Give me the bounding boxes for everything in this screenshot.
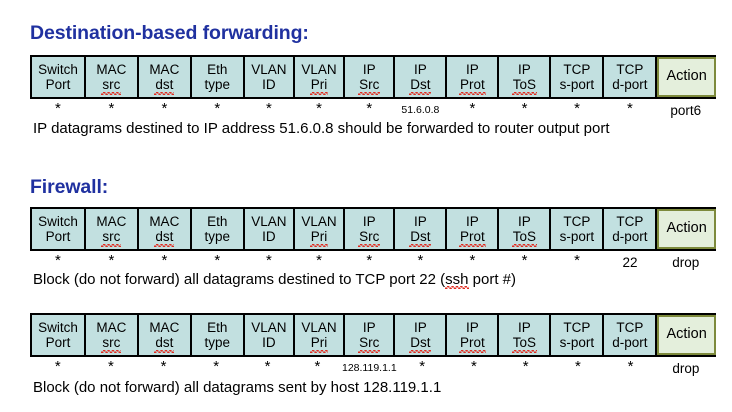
- column-header-ip-tos: IPToS: [499, 315, 551, 355]
- column-header-line2: Port: [46, 77, 71, 93]
- column-header-ip-src: IPSrc: [345, 57, 395, 97]
- column-header-line2: Src: [359, 335, 379, 351]
- value-vlan-id: *: [244, 358, 294, 378]
- caption-text: Block (do not forward) all datagrams des…: [33, 271, 445, 288]
- column-header-eth-type: Ethtype: [192, 57, 245, 97]
- value-ip-prot: *: [447, 100, 499, 120]
- value-vlan-pri: *: [293, 358, 343, 378]
- value-ip-prot: *: [449, 358, 501, 378]
- column-header-ip-prot: IPProt: [447, 209, 499, 249]
- column-header-line2: Port: [46, 335, 71, 351]
- value-eth-type: *: [192, 100, 245, 120]
- value-switch-port: *: [32, 100, 86, 120]
- column-header-line2: Pri: [311, 335, 328, 351]
- value-ip-tos: *: [499, 100, 551, 120]
- column-header-line2: ToS: [513, 229, 536, 245]
- column-header-line1: IP: [466, 62, 479, 78]
- column-header-line2: s-port: [560, 229, 595, 245]
- column-header-line2: s-port: [560, 77, 595, 93]
- column-header-tcp-sport: TCPs-port: [551, 209, 604, 249]
- column-header-line1: Switch: [38, 320, 78, 336]
- value-tcp-dport: 22: [604, 252, 657, 272]
- column-header-line1: VLAN: [251, 320, 286, 336]
- column-header-line2: ID: [262, 229, 276, 245]
- caption-text: Block (do not forward) all datagrams sen…: [33, 379, 441, 396]
- column-header-action: Action: [657, 57, 716, 97]
- column-header-line1: Action: [666, 69, 706, 85]
- caption-firewall-host: Block (do not forward) all datagrams sen…: [33, 379, 441, 396]
- column-header-line1: Action: [666, 221, 706, 237]
- column-header-mac-dst: MACdst: [139, 57, 192, 97]
- column-header-line2: Prot: [460, 335, 485, 351]
- value-ip-src: *: [345, 252, 395, 272]
- column-header-line2: Prot: [460, 229, 485, 245]
- caption-text: IP datagrams destined to IP address 51.6…: [33, 120, 609, 137]
- column-header-line1: IP: [518, 214, 531, 230]
- flow-table-block-1: SwitchPortMACsrcMACdstEthtypeVLANIDVLANP…: [30, 55, 716, 120]
- section-title-firewall: Firewall:: [30, 176, 108, 199]
- value-ip-tos: *: [501, 358, 553, 378]
- caption-firewall-port22: Block (do not forward) all datagrams des…: [33, 271, 516, 288]
- value-switch-port: *: [32, 252, 86, 272]
- column-header-line2: type: [205, 229, 231, 245]
- column-header-line2: Dst: [410, 77, 430, 93]
- column-header-ip-dst: IPDst: [395, 57, 447, 97]
- value-ip-dst: *: [397, 358, 449, 378]
- column-header-line1: VLAN: [301, 62, 336, 78]
- column-header-line1: IP: [363, 214, 376, 230]
- column-header-eth-type: Ethtype: [192, 209, 245, 249]
- column-header-action: Action: [657, 315, 716, 355]
- column-header-ip-prot: IPProt: [447, 315, 499, 355]
- value-action: drop: [657, 252, 716, 272]
- column-header-line2: s-port: [560, 335, 595, 351]
- column-header-line1: Eth: [207, 320, 227, 336]
- value-mac-dst: *: [139, 100, 192, 120]
- column-header-line1: TCP: [563, 214, 590, 230]
- value-vlan-id: *: [245, 100, 295, 120]
- column-header-switch-port: SwitchPort: [32, 315, 86, 355]
- column-header-line2: dst: [155, 229, 173, 245]
- column-header-line2: src: [102, 77, 120, 93]
- column-header-line1: IP: [518, 62, 531, 78]
- column-header-mac-src: MACsrc: [86, 209, 139, 249]
- column-header-line1: VLAN: [251, 214, 286, 230]
- column-header-line1: IP: [363, 62, 376, 78]
- caption-destination-based-forwarding: IP datagrams destined to IP address 51.6…: [33, 120, 609, 137]
- column-header-line1: MAC: [96, 320, 126, 336]
- column-header-line1: MAC: [149, 320, 179, 336]
- value-action: drop: [658, 358, 716, 378]
- column-header-tcp-sport: TCPs-port: [551, 315, 604, 355]
- column-header-line2: src: [102, 229, 120, 245]
- flow-table-block-3: SwitchPortMACsrcMACdstEthtypeVLANIDVLANP…: [30, 313, 716, 378]
- column-header-line2: dst: [155, 77, 173, 93]
- column-header-line1: TCP: [616, 214, 643, 230]
- column-header-tcp-sport: TCPs-port: [551, 57, 604, 97]
- firewall-port22-values: ***********22drop: [30, 252, 716, 272]
- column-header-line2: Dst: [410, 229, 430, 245]
- column-header-line1: VLAN: [301, 320, 336, 336]
- column-header-line1: IP: [363, 320, 376, 336]
- column-header-line1: MAC: [96, 214, 126, 230]
- column-header-line2: Src: [359, 229, 379, 245]
- column-header-vlan-pri: VLANPri: [295, 57, 345, 97]
- value-mac-dst: *: [138, 358, 191, 378]
- column-header-ip-tos: IPToS: [499, 209, 551, 249]
- column-header-line1: TCP: [616, 62, 643, 78]
- value-mac-src: *: [86, 252, 139, 272]
- column-header-line2: Pri: [311, 77, 328, 93]
- column-header-ip-dst: IPDst: [395, 315, 447, 355]
- column-header-line1: IP: [466, 214, 479, 230]
- column-header-action: Action: [657, 209, 716, 249]
- column-header-line2: Dst: [410, 335, 430, 351]
- column-header-switch-port: SwitchPort: [32, 209, 86, 249]
- column-header-vlan-pri: VLANPri: [295, 315, 345, 355]
- section-title-destination-based-forwarding: Destination-based forwarding:: [30, 22, 309, 45]
- value-vlan-pri: *: [295, 100, 345, 120]
- column-header-line1: VLAN: [251, 62, 286, 78]
- value-ip-prot: *: [447, 252, 499, 272]
- column-header-line1: Action: [666, 327, 706, 343]
- column-header-vlan-id: VLANID: [245, 57, 295, 97]
- value-vlan-id: *: [245, 252, 295, 272]
- column-header-mac-dst: MACdst: [139, 209, 192, 249]
- value-ip-src: 128.119.1.1: [343, 358, 397, 378]
- column-header-mac-dst: MACdst: [139, 315, 192, 355]
- column-header-line1: Switch: [38, 62, 78, 78]
- column-header-line1: IP: [466, 320, 479, 336]
- column-header-line1: IP: [414, 62, 427, 78]
- column-header-line2: src: [102, 335, 120, 351]
- destination-based-forwarding-values: *******51.6.0.8****port6: [30, 100, 716, 120]
- value-tcp-sport: *: [553, 358, 606, 378]
- value-eth-type: *: [191, 358, 244, 378]
- column-header-tcp-dport: TCPd-port: [604, 209, 657, 249]
- column-header-ip-dst: IPDst: [395, 209, 447, 249]
- column-header-line1: VLAN: [301, 214, 336, 230]
- value-ip-src: *: [345, 100, 395, 120]
- value-mac-dst: *: [139, 252, 192, 272]
- column-header-line2: ToS: [513, 335, 536, 351]
- column-header-tcp-dport: TCPd-port: [604, 57, 657, 97]
- caption-text: port #): [469, 271, 517, 288]
- column-header-line2: dst: [155, 335, 173, 351]
- value-tcp-sport: *: [552, 252, 605, 272]
- column-header-line1: TCP: [563, 62, 590, 78]
- column-header-vlan-id: VLANID: [245, 315, 295, 355]
- column-header-vlan-pri: VLANPri: [295, 209, 345, 249]
- value-eth-type: *: [192, 252, 245, 272]
- column-header-line1: Eth: [207, 62, 227, 78]
- column-header-ip-tos: IPToS: [499, 57, 551, 97]
- destination-based-forwarding-table: SwitchPortMACsrcMACdstEthtypeVLANIDVLANP…: [30, 55, 716, 99]
- column-header-line2: ID: [262, 335, 276, 351]
- column-header-ip-src: IPSrc: [345, 209, 395, 249]
- column-header-line1: IP: [518, 320, 531, 336]
- value-tcp-dport: *: [605, 358, 658, 378]
- column-header-eth-type: Ethtype: [192, 315, 245, 355]
- column-header-line2: d-port: [612, 229, 647, 245]
- column-header-line1: Eth: [207, 214, 227, 230]
- column-header-line1: MAC: [149, 214, 179, 230]
- column-header-line1: TCP: [616, 320, 643, 336]
- column-header-line1: MAC: [96, 62, 126, 78]
- value-ip-tos: *: [499, 252, 551, 272]
- caption-misspelled-word: ssh: [445, 271, 468, 288]
- column-header-line2: ID: [262, 77, 276, 93]
- column-header-vlan-id: VLANID: [245, 209, 295, 249]
- value-tcp-dport: *: [604, 100, 657, 120]
- value-mac-src: *: [86, 358, 139, 378]
- firewall-host-values: ******128.119.1.1*****drop: [30, 358, 716, 378]
- value-vlan-pri: *: [295, 252, 345, 272]
- column-header-line2: Prot: [460, 77, 485, 93]
- column-header-line1: MAC: [149, 62, 179, 78]
- column-header-line2: type: [205, 335, 231, 351]
- slide-canvas: Destination-based forwarding: SwitchPort…: [0, 0, 732, 412]
- column-header-mac-src: MACsrc: [86, 57, 139, 97]
- value-mac-src: *: [86, 100, 139, 120]
- column-header-line1: Switch: [38, 214, 78, 230]
- value-ip-dst: 51.6.0.8: [395, 100, 447, 120]
- column-header-line2: Port: [46, 229, 71, 245]
- column-header-line2: ToS: [513, 77, 536, 93]
- column-header-line2: type: [205, 77, 231, 93]
- value-switch-port: *: [32, 358, 86, 378]
- column-header-line1: IP: [414, 320, 427, 336]
- column-header-switch-port: SwitchPort: [32, 57, 86, 97]
- column-header-mac-src: MACsrc: [86, 315, 139, 355]
- column-header-line2: d-port: [612, 77, 647, 93]
- column-header-line2: Src: [359, 77, 379, 93]
- column-header-line2: Pri: [311, 229, 328, 245]
- column-header-line1: IP: [414, 214, 427, 230]
- column-header-ip-prot: IPProt: [447, 57, 499, 97]
- firewall-port22-table: SwitchPortMACsrcMACdstEthtypeVLANIDVLANP…: [30, 207, 716, 251]
- value-ip-dst: *: [395, 252, 447, 272]
- value-action: port6: [657, 100, 716, 120]
- firewall-host-table: SwitchPortMACsrcMACdstEthtypeVLANIDVLANP…: [30, 313, 716, 357]
- flow-table-block-2: SwitchPortMACsrcMACdstEthtypeVLANIDVLANP…: [30, 207, 716, 272]
- value-tcp-sport: *: [552, 100, 605, 120]
- column-header-tcp-dport: TCPd-port: [604, 315, 657, 355]
- column-header-line1: TCP: [563, 320, 590, 336]
- column-header-line2: d-port: [612, 335, 647, 351]
- column-header-ip-src: IPSrc: [345, 315, 395, 355]
